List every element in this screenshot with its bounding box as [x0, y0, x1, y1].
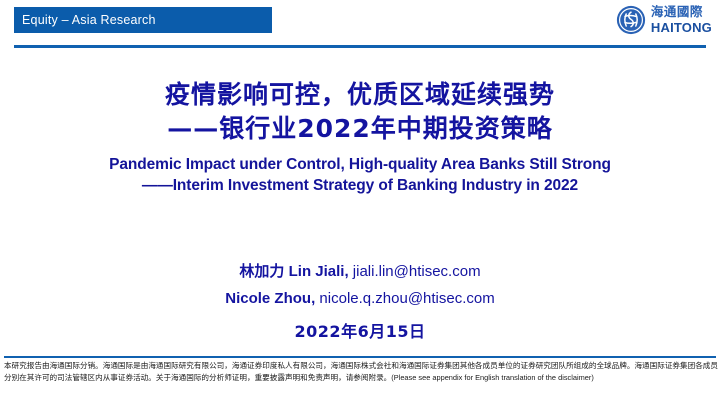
disclaimer-block: 本研究报告由海通国际分销。海通国际是由海通国际研究有限公司，海通证券印度私人有限… [4, 360, 718, 383]
disclaimer-english-note: (Please see appendix for English transla… [391, 373, 594, 382]
author-email[interactable]: jiali.lin@htisec.com [353, 263, 481, 280]
author-name-english: Lin Jiali, [289, 263, 349, 280]
title-chinese: 疫情影响可控，优质区域延续强势 ——银行业2022年中期投资策略 [0, 78, 720, 146]
haitong-emblem-icon [616, 5, 646, 35]
header-divider [14, 45, 706, 48]
title-block: 疫情影响可控，优质区域延续强势 ——银行业2022年中期投资策略 Pandemi… [0, 78, 720, 196]
author-name-chinese: 林加力 [239, 262, 284, 280]
title-chinese-line1: 疫情影响可控，优质区域延续强势 [0, 78, 720, 112]
author-row-lin-jiali: 林加力 Lin Jiali, jiali.lin@htisec.com [0, 258, 720, 285]
author-name-english: Nicole Zhou, [225, 290, 315, 307]
logo-english-text: HAITONG [651, 21, 712, 34]
authors-block: 林加力 Lin Jiali, jiali.lin@htisec.com Nico… [0, 258, 720, 342]
author-row-nicole-zhou: Nicole Zhou, nicole.q.zhou@htisec.com [0, 285, 720, 312]
haitong-logo: 海通國際 HAITONG [616, 5, 712, 35]
header-tab-equity-asia-research: Equity – Asia Research [14, 7, 272, 33]
title-chinese-line2: ——银行业2022年中期投资策略 [0, 112, 720, 146]
author-email[interactable]: nicole.q.zhou@htisec.com [319, 290, 494, 307]
title-english-line1: Pandemic Impact under Control, High-qual… [0, 154, 720, 175]
disclaimer-chinese-text: 本研究报告由海通国际分销。海通国际是由海通国际研究有限公司，海通证券印度私人有限… [4, 361, 718, 382]
disclaimer-divider [4, 356, 716, 358]
title-english-line2: ——Interim Investment Strategy of Banking… [0, 175, 720, 196]
logo-chinese-text: 海通國際 [651, 6, 712, 19]
page-header: Equity – Asia Research 海通國際 HAITONG [0, 0, 720, 52]
publication-date: 2022年6月15日 [0, 318, 720, 342]
title-english: Pandemic Impact under Control, High-qual… [0, 154, 720, 196]
